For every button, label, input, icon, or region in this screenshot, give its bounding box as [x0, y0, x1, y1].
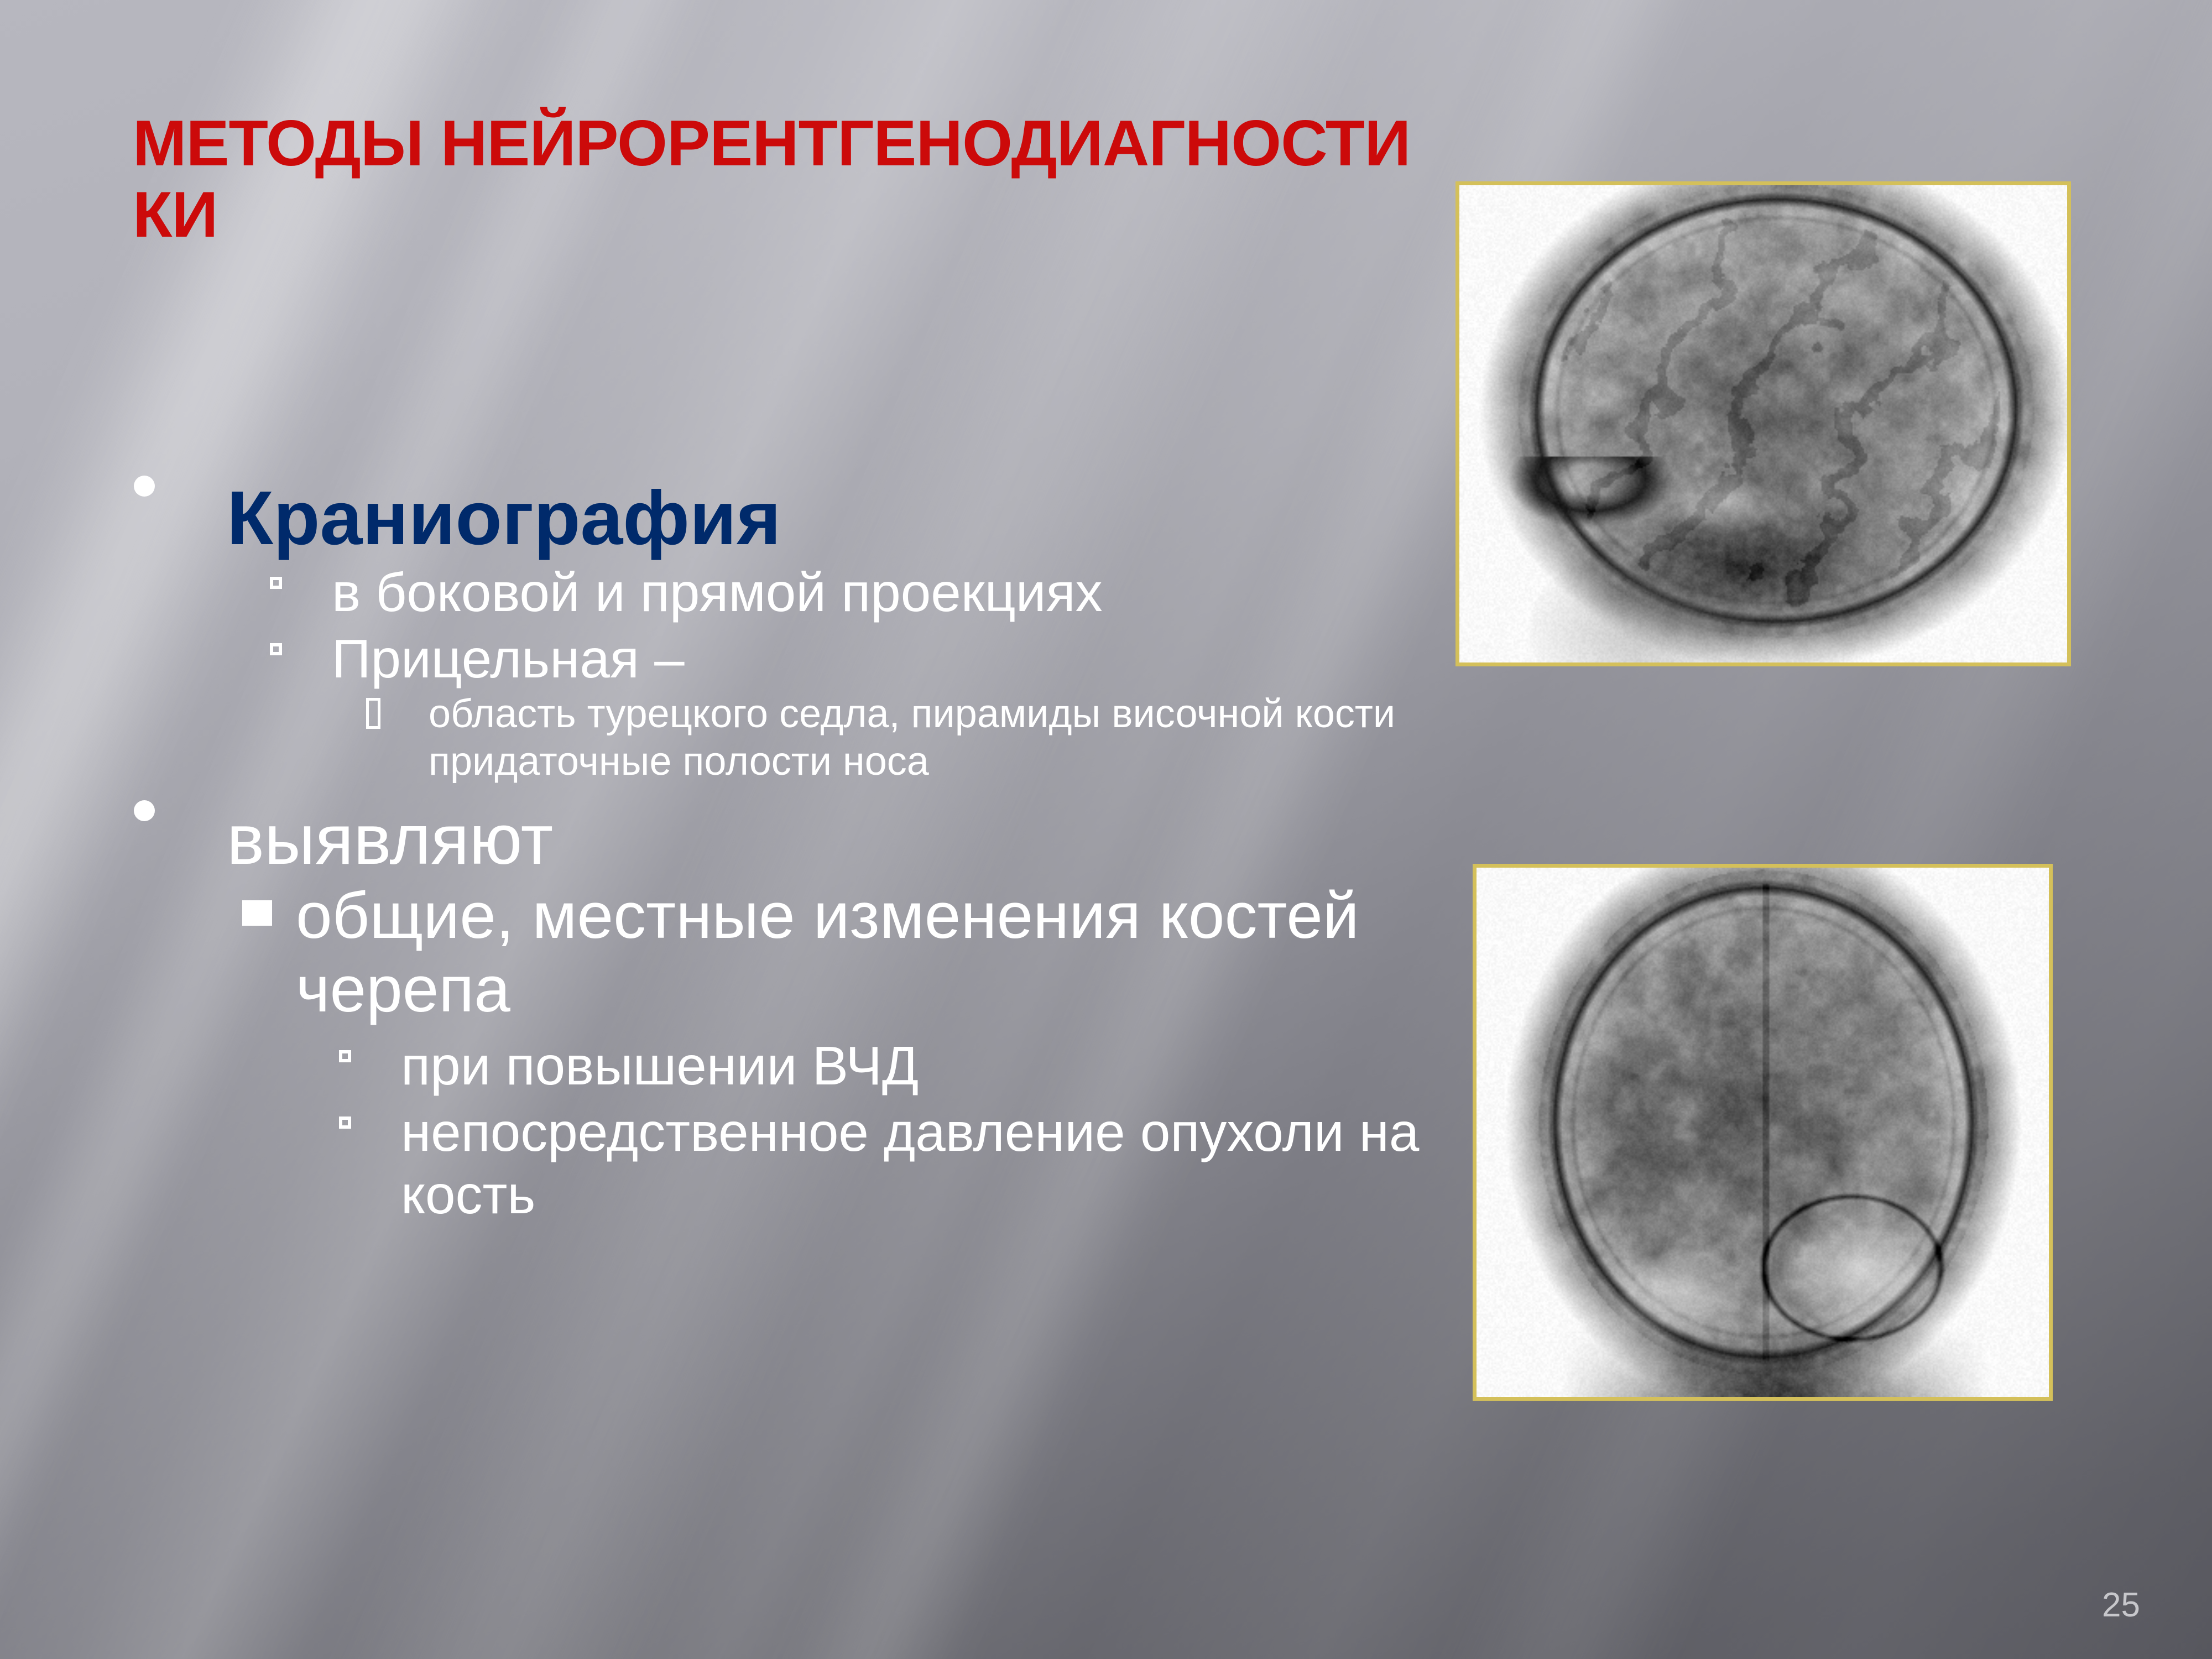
- bullet-list-level3: область турецкого седла, пирамиды височн…: [332, 690, 1482, 786]
- list-item: выявляют общие, местные изменения костей…: [100, 800, 1482, 1226]
- slide-title-text: МЕТОДЫ НЕЙРОРЕНТГЕНОДИАГНОСТИКИ: [133, 108, 1427, 250]
- hollow-rect-bullet-icon: [366, 698, 380, 729]
- round-bullet-icon: [134, 800, 155, 821]
- skull-xray-lateral-image: [1459, 185, 2067, 662]
- presentation-slide: МЕТОДЫ НЕЙРОРЕНТГЕНОДИАГНОСТИКИ Краниогр…: [0, 0, 2212, 1659]
- list-item: при повышении ВЧД: [296, 1035, 1482, 1097]
- list-item: Прицельная – область турецкого седла, пи…: [227, 628, 1482, 785]
- bullet-list-level1: Краниография в боковой и прямой проекция…: [100, 476, 1482, 1226]
- filled-square-bullet-icon: [242, 900, 272, 926]
- skull-xray-lateral: [1455, 181, 2071, 666]
- bullet-label: общие, местные изменения костей черепа: [296, 879, 1359, 1026]
- skull-xray-frontal-image: [1477, 868, 2049, 1397]
- hollow-square-bullet-icon: [339, 1117, 351, 1129]
- bullet-label: в боковой и прямой проекциях: [332, 562, 1103, 623]
- hollow-square-bullet-icon: [270, 643, 282, 655]
- list-item: общие, местные изменения костей черепа п…: [227, 879, 1482, 1226]
- slide-body: Краниография в боковой и прямой проекция…: [100, 476, 1482, 1230]
- bullet-list-level2-filled: общие, местные изменения костей черепа п…: [227, 879, 1482, 1226]
- bullet-label: область турецкого седла, пирамиды височн…: [429, 690, 1463, 786]
- hollow-square-bullet-icon: [339, 1050, 351, 1062]
- round-bullet-icon: [134, 476, 155, 497]
- list-item: Краниография в боковой и прямой проекция…: [100, 476, 1482, 786]
- bullet-label: непосредственное давление опухоли на кос…: [401, 1102, 1419, 1225]
- slide-title: МЕТОДЫ НЕЙРОРЕНТГЕНОДИАГНОСТИКИ: [133, 108, 1427, 250]
- skull-xray-frontal: [1473, 864, 2053, 1401]
- list-item: область турецкого седла, пирамиды височн…: [332, 690, 1482, 786]
- bullet-label: Краниография: [227, 476, 781, 561]
- list-item: в боковой и прямой проекциях: [227, 561, 1482, 624]
- list-item: непосредственное давление опухоли на кос…: [296, 1101, 1482, 1225]
- hollow-square-bullet-icon: [270, 577, 282, 589]
- page-number: 25: [2102, 1585, 2140, 1625]
- bullet-label: Прицельная –: [332, 628, 685, 689]
- bullet-list-level3b: при повышении ВЧД непосредственное давле…: [296, 1035, 1482, 1226]
- bullet-list-level2: в боковой и прямой проекциях Прицельная …: [227, 561, 1482, 786]
- bullet-label: при повышении ВЧД: [401, 1035, 919, 1096]
- bullet-label: выявляют: [227, 800, 553, 879]
